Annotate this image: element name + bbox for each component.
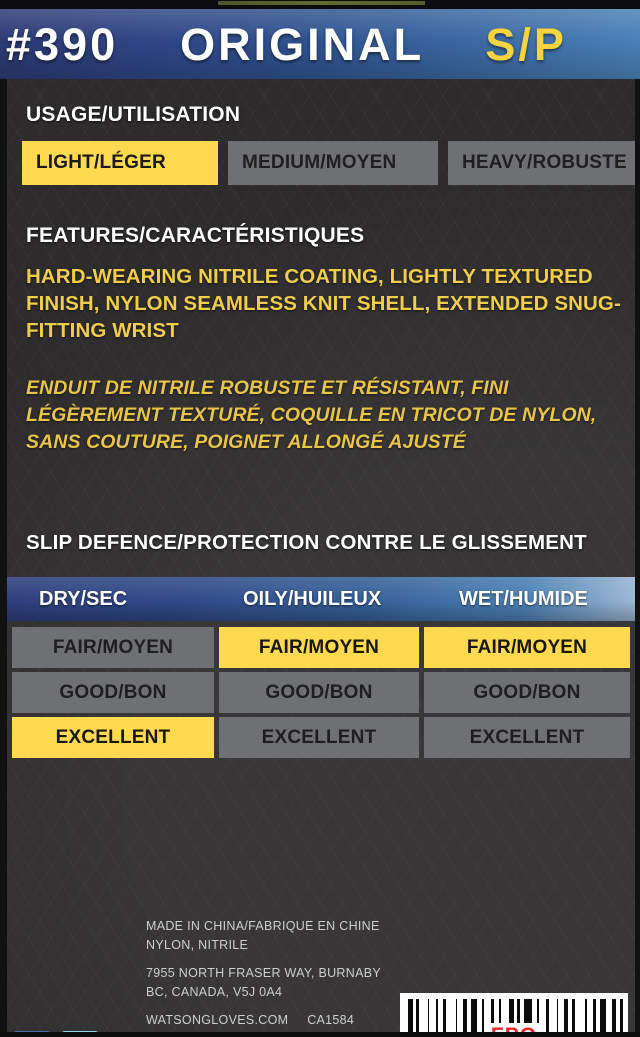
usage-option-light[interactable]: LIGHT/LÉGER: [22, 141, 218, 185]
slip-cell-dry-good[interactable]: GOOD/BON: [12, 672, 214, 713]
footer-info-block: MADE IN CHINA/FABRIQUE EN CHINE NYLON, N…: [146, 917, 396, 1030]
slip-defence-section-title: SLIP DEFENCE/PROTECTION CONTRE LE GLISSE…: [26, 531, 587, 555]
card-content: USAGE/UTILISATION LIGHT/LÉGER MEDIUM/MOY…: [0, 79, 640, 1037]
header-title: #390 ORIGINAL S/P: [6, 15, 567, 75]
footer-code: CA1584: [307, 1013, 354, 1027]
right-edge-border: [635, 79, 640, 1037]
header-model: #390: [6, 19, 118, 70]
left-edge-border: [0, 79, 7, 1037]
green-accent-strip: [218, 1, 425, 5]
slip-column-wet: WET/HUMIDE: [445, 577, 588, 621]
usage-section-title: USAGE/UTILISATION: [26, 103, 240, 127]
features-text-english: HARD-WEARING NITRILE COATING, LIGHTLY TE…: [26, 263, 626, 344]
slip-column-oily: OILY/HUILEUX: [229, 577, 381, 621]
slip-defence-grid: FAIR/MOYEN FAIR/MOYEN FAIR/MOYEN GOOD/BO…: [7, 627, 635, 766]
usage-option-medium[interactable]: MEDIUM/MOYEN: [228, 141, 438, 185]
footer-origin: MADE IN CHINA/FABRIQUE EN CHINE: [146, 917, 396, 936]
barcode: FPO 0 00000 00000 0: [400, 993, 628, 1037]
usage-option-heavy[interactable]: HEAVY/ROBUSTE: [448, 141, 640, 185]
footer-address-line2: BC, CANADA, V5J 0A4: [146, 983, 396, 1002]
features-text-french: ENDUIT DE NITRILE ROBUSTE ET RÉSISTANT, …: [26, 375, 626, 456]
footer-website-row: WATSONGLOVES.COM CA1584: [146, 1011, 396, 1030]
slip-cell-wet-excellent[interactable]: EXCELLENT: [424, 717, 630, 758]
header-name: ORIGINAL: [180, 19, 423, 70]
features-section-title: FEATURES/CARACTÉRISTIQUES: [26, 224, 364, 248]
slip-cell-oily-fair[interactable]: FAIR/MOYEN: [219, 627, 419, 668]
slip-cell-wet-fair[interactable]: FAIR/MOYEN: [424, 627, 630, 668]
slip-defence-header-row: DRY/SEC OILY/HUILEUX WET/HUMIDE: [7, 577, 635, 621]
slip-cell-oily-good[interactable]: GOOD/BON: [219, 672, 419, 713]
slip-cell-dry-excellent[interactable]: EXCELLENT: [12, 717, 214, 758]
slip-column-dry: DRY/SEC: [25, 577, 127, 621]
usage-options-row: LIGHT/LÉGER MEDIUM/MOYEN HEAVY/ROBUSTE: [22, 141, 640, 185]
footer-website[interactable]: WATSONGLOVES.COM: [146, 1013, 288, 1027]
slip-cell-oily-excellent[interactable]: EXCELLENT: [219, 717, 419, 758]
slip-cell-wet-good[interactable]: GOOD/BON: [424, 672, 630, 713]
footer-address-line1: 7955 NORTH FRASER WAY, BURNABY: [146, 964, 396, 983]
header-suffix: S/P: [485, 19, 567, 70]
bottom-edge-border: [0, 1032, 640, 1037]
product-package-card: #390 ORIGINAL S/P USAGE/UTILISATION LIGH…: [0, 0, 640, 1037]
header-banner: #390 ORIGINAL S/P: [0, 9, 640, 79]
footer-materials: NYLON, NITRILE: [146, 936, 396, 955]
slip-cell-dry-fair[interactable]: FAIR/MOYEN: [12, 627, 214, 668]
